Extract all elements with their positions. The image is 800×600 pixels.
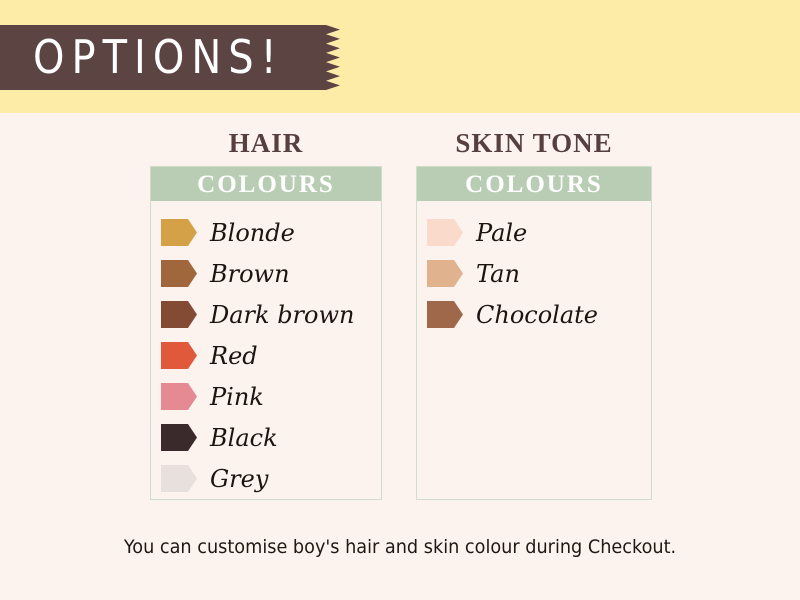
colour-swatch-icon (161, 383, 197, 410)
footer-caption: You can customise boy's hair and skin co… (28, 538, 772, 557)
column-skin-tone: SKIN TONE COLOURS Pale Tan Chocolate (416, 130, 652, 500)
swatch-row[interactable]: Pale (427, 212, 651, 253)
swatch-row[interactable]: Brown (161, 253, 381, 294)
swatch-label: Black (197, 426, 278, 450)
colour-swatch-icon (161, 424, 197, 451)
swatch-label: Red (197, 344, 258, 368)
top-yellow-band: OPTIONS! (0, 0, 800, 113)
card-header-label-hair: COLOURS (197, 172, 335, 197)
colour-swatch-icon (161, 465, 197, 492)
swatch-row[interactable]: Dark brown (161, 294, 381, 335)
swatch-label: Pink (197, 385, 264, 409)
colour-swatch-icon (161, 301, 197, 328)
column-title-skin-tone: SKIN TONE (416, 130, 652, 166)
swatch-row[interactable]: Pink (161, 376, 381, 417)
swatch-label: Dark brown (197, 303, 354, 327)
card-hair-colours: COLOURS Blonde Brown Dark brown Red (150, 166, 382, 500)
swatch-row[interactable]: Red (161, 335, 381, 376)
column-hair: HAIR COLOURS Blonde Brown Dark brown (150, 130, 382, 500)
swatch-row[interactable]: Black (161, 417, 381, 458)
swatch-row[interactable]: Blonde (161, 212, 381, 253)
card-header-hair: COLOURS (151, 167, 381, 201)
swatch-row[interactable]: Chocolate (427, 294, 651, 335)
colour-swatch-icon (161, 219, 197, 246)
swatch-row[interactable]: Tan (427, 253, 651, 294)
colour-swatch-icon (161, 260, 197, 287)
swatch-label: Grey (197, 467, 268, 491)
swatch-label: Tan (463, 262, 520, 286)
swatch-row[interactable]: Grey (161, 458, 381, 499)
options-ribbon: OPTIONS! (0, 25, 326, 90)
colour-swatch-icon (161, 342, 197, 369)
swatch-label: Blonde (197, 221, 295, 245)
column-title-hair: HAIR (150, 130, 382, 166)
card-header-skin-tone: COLOURS (417, 167, 651, 201)
swatch-label: Pale (463, 221, 527, 245)
ribbon-zigzag-edge-icon (326, 25, 340, 90)
card-skin-tone-colours: COLOURS Pale Tan Chocolate (416, 166, 652, 500)
banner-title: OPTIONS! (0, 35, 284, 81)
colour-swatch-icon (427, 260, 463, 287)
swatch-label: Brown (197, 262, 290, 286)
colour-swatch-icon (427, 219, 463, 246)
colour-swatch-icon (427, 301, 463, 328)
swatch-list-hair: Blonde Brown Dark brown Red Pink (151, 201, 381, 499)
card-header-label-skin-tone: COLOURS (465, 172, 603, 197)
swatch-label: Chocolate (463, 303, 598, 327)
swatch-list-skin-tone: Pale Tan Chocolate (417, 201, 651, 335)
